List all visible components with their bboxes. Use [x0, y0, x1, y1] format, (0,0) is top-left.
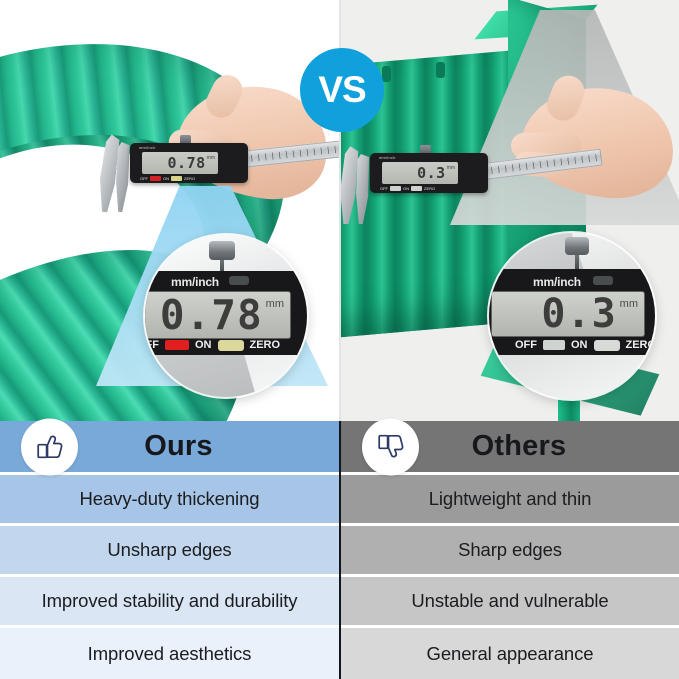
- caliper-display: 0.78 mm: [142, 152, 218, 174]
- table-row: Improved aesthetics: [0, 628, 339, 679]
- caliper-display-zoomed: 0.78 mm: [145, 291, 291, 339]
- table-row: Sharp edges: [341, 526, 679, 574]
- thumbs-up-icon: [21, 418, 78, 475]
- caliper-off-label: OFF: [515, 339, 537, 351]
- table-column-divider: [339, 421, 341, 679]
- photo-others: mm/inch 0.3 mm OFF ON ZERO: [340, 0, 679, 421]
- caliper-thumb-knob-zoomed: [565, 237, 589, 255]
- caliper-on-label: ON: [195, 339, 212, 351]
- column-header-ours: Ours: [0, 421, 339, 472]
- caliper-display-zoomed: 0.3 mm: [491, 291, 645, 337]
- caliper-button-row-zoomed: OFF ON ZERO: [145, 339, 280, 351]
- caliper-zero-switch-zoomed[interactable]: [218, 340, 244, 351]
- caliper-on-switch: [390, 186, 401, 191]
- caliper-on-switch: [150, 176, 161, 181]
- photo-area: mm/inch 0.78 mm OFF ON ZERO: [0, 0, 679, 421]
- caliper-unit-zoomed: mm: [620, 298, 638, 310]
- caliper-reading: 0.78: [168, 156, 206, 171]
- caliper-button-row-zoomed: OFF ON ZERO: [515, 339, 655, 351]
- column-ours: Ours Heavy-duty thickening Unsharp edges…: [0, 421, 339, 679]
- caliper-zero-label: ZERO: [626, 339, 656, 351]
- caliper-mode-label-zoomed: mm/inch: [533, 275, 581, 289]
- photo-ours: mm/inch 0.78 mm OFF ON ZERO: [0, 0, 340, 421]
- vs-badge: VS: [300, 48, 384, 132]
- caliper-unit: mm: [207, 155, 215, 161]
- caliper-display: 0.3 mm: [382, 162, 458, 184]
- comparison-table: Ours Heavy-duty thickening Unsharp edges…: [0, 421, 679, 679]
- table-row: Lightweight and thin: [341, 475, 679, 523]
- caliper-button-row: OFF ON ZERO: [380, 186, 435, 191]
- caliper-zero-switch-zoomed[interactable]: [594, 340, 620, 351]
- table-row: General appearance: [341, 628, 679, 679]
- caliper-body: mm/inch 0.3 mm OFF ON ZERO: [370, 153, 488, 193]
- column-header-others: Others: [341, 421, 679, 472]
- table-row: Improved stability and durability: [0, 577, 339, 625]
- caliper-off-label: OFF: [145, 339, 159, 351]
- caliper-unit: mm: [447, 165, 455, 171]
- caliper-reading-zoomed: 0.3: [541, 295, 616, 333]
- vs-label: VS: [318, 69, 365, 111]
- caliper-mode-button-zoomed[interactable]: [229, 276, 249, 285]
- caliper-mode-label-zoomed: mm/inch: [171, 275, 219, 289]
- caliper-zero-label: ZERO: [250, 339, 281, 351]
- table-row: Unsharp edges: [0, 526, 339, 574]
- thumbs-down-icon: [362, 418, 419, 475]
- table-row: Unstable and vulnerable: [341, 577, 679, 625]
- caliper-on-switch-zoomed[interactable]: [543, 340, 565, 350]
- caliper-mode-label: mm/inch: [379, 155, 396, 160]
- magnifier-left: mm/inch 0.78 mm OFF ON ZERO: [145, 235, 307, 397]
- comparison-infographic: mm/inch 0.78 mm OFF ON ZERO: [0, 0, 679, 679]
- caliper-zero-switch: [171, 176, 182, 181]
- caliper-on-label: ON: [571, 339, 588, 351]
- table-row: Heavy-duty thickening: [0, 475, 339, 523]
- caliper-reading-zoomed: 0.78: [160, 296, 263, 335]
- caliper-body: mm/inch 0.78 mm OFF ON ZERO: [130, 143, 248, 183]
- caliper-mode-label: mm/inch: [139, 145, 156, 150]
- caliper-button-row: OFF ON ZERO: [140, 176, 195, 181]
- caliper-zero-switch: [411, 186, 422, 191]
- magnifier-right: mm/inch 0.3 mm OFF ON ZERO: [489, 233, 655, 399]
- caliper-mode-button-zoomed[interactable]: [593, 276, 613, 285]
- caliper-unit-zoomed: mm: [266, 298, 284, 310]
- caliper-reading: 0.3: [417, 166, 446, 181]
- column-others: Others Lightweight and thin Sharp edges …: [341, 421, 679, 679]
- caliper-thumb-knob-zoomed: [209, 241, 235, 260]
- caliper-on-switch-zoomed[interactable]: [165, 340, 189, 350]
